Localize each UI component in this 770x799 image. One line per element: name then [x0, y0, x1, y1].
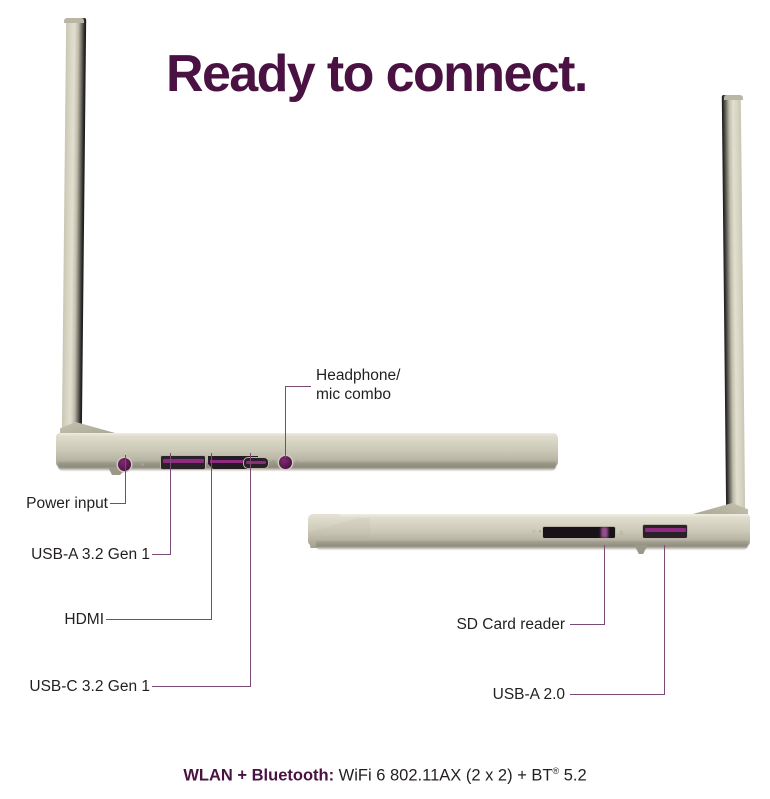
footer-spec-value-pre: WiFi 6 802.11AX (2 x 2) + BT — [334, 767, 552, 785]
callout-usb-a-32-gen1: USB-A 3.2 Gen 1 — [0, 545, 150, 564]
leader-sd-horizontal — [570, 624, 605, 625]
callout-usb-c-32-gen1: USB-C 3.2 Gen 1 — [0, 677, 150, 696]
callout-sd-card-reader: SD Card reader — [410, 615, 565, 634]
port-tongue — [163, 459, 204, 463]
footer-spec-key: WLAN + Bluetooth: — [183, 767, 334, 785]
callout-power-input: Power input — [0, 494, 108, 513]
callout-usb-a-20: USB-A 2.0 — [420, 685, 565, 704]
leader-usb-a-vertical — [170, 453, 171, 555]
port-usb-c-32-gen1 — [244, 458, 268, 468]
callout-headphone-mic-combo: Headphone/ mic combo — [316, 366, 400, 404]
footer-spec-value-post: 5.2 — [559, 767, 587, 785]
leader-usb-a-horizontal — [152, 554, 171, 555]
status-led-power — [141, 463, 144, 466]
laptop-lid-edge — [62, 18, 86, 438]
port-sd-card-reader — [543, 527, 615, 538]
laptop-base-underside — [316, 541, 748, 550]
silkscreen-sd-label: ▯ — [620, 531, 623, 536]
leader-hdmi-horizontal — [106, 619, 212, 620]
leader-usb-a-20-vertical — [664, 545, 665, 695]
product-infographic: Ready to connect. ▾ SS←→ HDMI SS←→ ◗ — [0, 0, 770, 799]
leader-usb-c-horizontal — [152, 686, 251, 687]
callout-hdmi: HDMI — [0, 610, 104, 629]
port-tongue — [246, 461, 266, 464]
leader-hdmi-vertical — [211, 453, 212, 620]
port-tongue — [645, 528, 686, 532]
leader-power-vertical — [125, 455, 126, 504]
leader-power-horizontal — [110, 503, 126, 504]
leader-sd-vertical — [604, 545, 605, 625]
laptop-lid-top-cap — [724, 95, 743, 100]
leader-headphone-vertical — [285, 386, 286, 458]
laptop-right-side-view: ○ ◑ ⚫ ☰ ▯ — [300, 95, 770, 565]
leader-usb-c-vertical — [250, 453, 251, 687]
laptop-lid-edge — [722, 95, 745, 519]
laptop-lid-top-cap — [64, 18, 84, 23]
footer-spec-line: WLAN + Bluetooth: WiFi 6 802.11AX (2 x 2… — [0, 766, 770, 786]
leader-headphone-horizontal — [285, 386, 311, 387]
port-usb-a-32-gen1 — [161, 456, 205, 469]
port-highlight — [601, 527, 608, 538]
port-usb-a-20 — [643, 525, 687, 538]
silkscreen-headphone-glyph: ◗ — [296, 460, 299, 465]
laptop-base-highlight — [340, 514, 748, 518]
leader-usb-a-20-horizontal — [570, 694, 665, 695]
silkscreen-power-glyph: ▾ — [148, 462, 151, 467]
